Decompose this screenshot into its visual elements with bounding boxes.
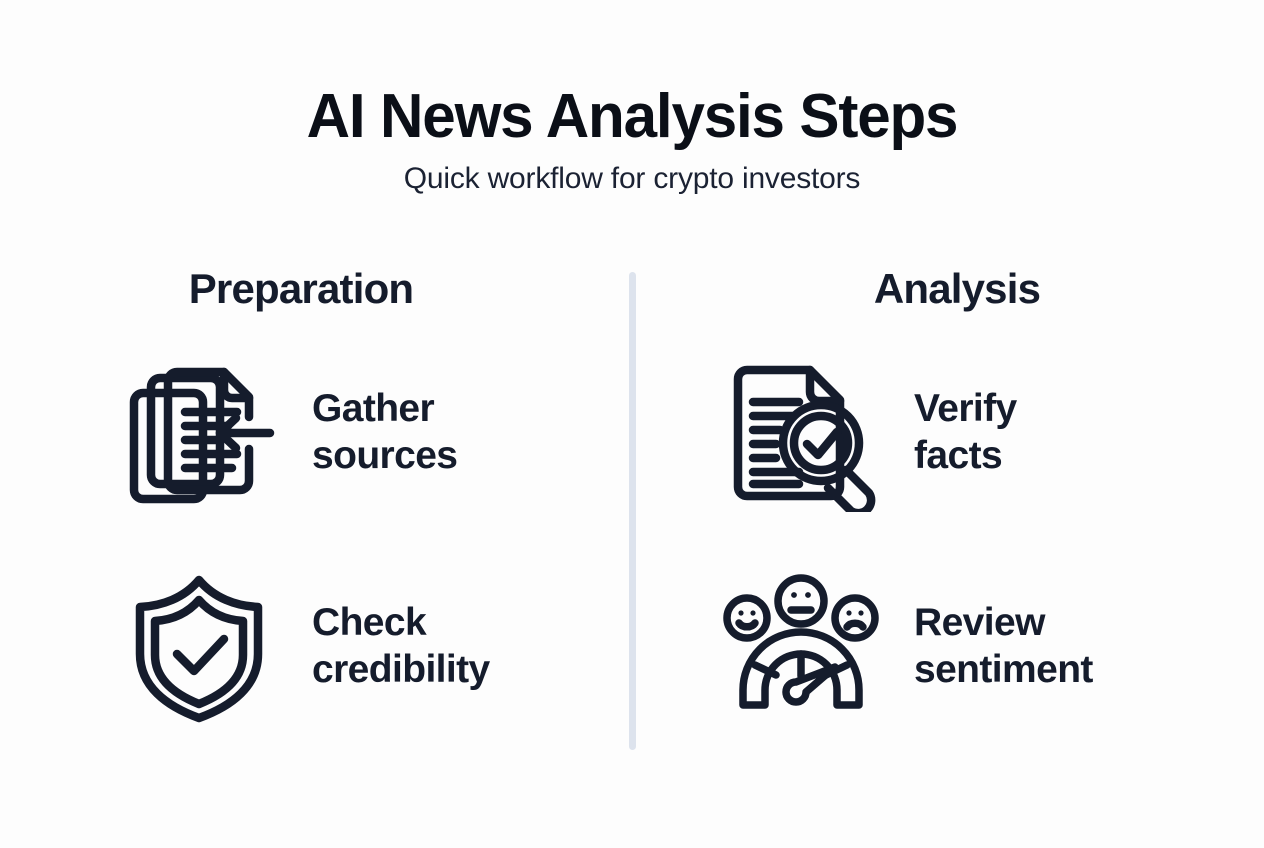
item-verify-facts[interactable]: Verify facts — [632, 354, 1264, 512]
column-analysis: Analysis — [632, 262, 1264, 782]
columns-container: Preparation — [0, 262, 1264, 782]
items-preparation: Gather sources Check cre — [0, 354, 632, 726]
item-gather-sources[interactable]: Gather sources — [0, 354, 632, 512]
header: AI News Analysis Steps Quick workflow fo… — [0, 86, 1264, 194]
items-analysis: Verify facts — [632, 354, 1264, 726]
item-check-credibility[interactable]: Check credibility — [0, 568, 632, 726]
item-label-check-credibility: Check credibility — [312, 600, 490, 694]
shield-check-icon — [120, 568, 278, 726]
item-review-sentiment[interactable]: Review sentiment — [632, 568, 1264, 726]
document-magnifier-check-icon — [722, 354, 880, 512]
item-label-verify-facts: Verify facts — [914, 386, 1017, 480]
sentiment-gauge-faces-icon — [722, 568, 880, 726]
page-title: AI News Analysis Steps — [19, 86, 1245, 148]
infographic-poster: AI News Analysis Steps Quick workflow fo… — [0, 0, 1264, 848]
page-subtitle: Quick workflow for crypto investors — [0, 164, 1264, 194]
column-heading-preparation: Preparation — [0, 262, 632, 310]
item-label-review-sentiment: Review sentiment — [914, 600, 1093, 694]
stacked-documents-arrow-icon — [120, 354, 278, 512]
item-label-gather-sources: Gather sources — [312, 386, 457, 480]
column-heading-analysis: Analysis — [632, 262, 1264, 310]
column-preparation: Preparation — [0, 262, 632, 782]
